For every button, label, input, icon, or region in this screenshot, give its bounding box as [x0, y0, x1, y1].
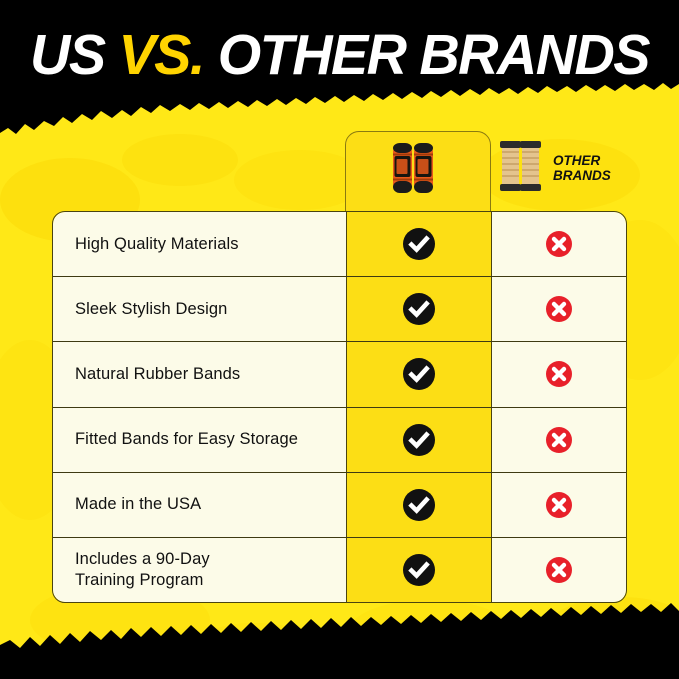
cross-icon [545, 426, 573, 454]
check-icon [402, 292, 436, 326]
other-brands-cell [492, 212, 626, 276]
feature-cell: Includes a 90-DayTraining Program [53, 538, 346, 602]
other-brands-header: OTHER BRANDS [498, 140, 630, 196]
other-label-line1: OTHER [553, 153, 600, 168]
other-brands-cell [492, 538, 626, 602]
us-cell [346, 277, 492, 341]
other-brands-label: OTHER BRANDS [553, 153, 611, 183]
title-part-us: US [30, 23, 118, 87]
us-cell [346, 473, 492, 537]
table-row: Made in the USA [53, 473, 626, 538]
feature-cell: Sleek Stylish Design [53, 277, 346, 341]
us-cell [346, 538, 492, 602]
other-brands-cell [492, 342, 626, 406]
other-product-image [498, 139, 544, 198]
feature-label: Made in the USA [75, 494, 201, 515]
cross-icon [545, 360, 573, 388]
check-icon [402, 488, 436, 522]
page-title: US VS. OTHER BRANDS [7, 22, 672, 88]
us-cell [346, 342, 492, 406]
check-icon [402, 227, 436, 261]
check-icon [402, 357, 436, 391]
feature-cell: High Quality Materials [53, 212, 346, 276]
other-brands-cell [492, 277, 626, 341]
feature-label: Includes a 90-DayTraining Program [75, 549, 210, 591]
feature-label: Natural Rubber Bands [75, 364, 240, 385]
title-part-other: OTHER BRANDS [204, 23, 649, 87]
other-brands-cell [492, 473, 626, 537]
infographic-canvas: US VS. OTHER BRANDS [0, 0, 679, 679]
other-brands-cell [492, 408, 626, 472]
table-row: Sleek Stylish Design [53, 277, 626, 342]
table-row: Fitted Bands for Easy Storage [53, 408, 626, 473]
cross-icon [545, 491, 573, 519]
feature-label: High Quality Materials [75, 234, 239, 255]
feature-label: Sleek Stylish Design [75, 299, 227, 320]
other-label-line2: BRANDS [553, 168, 611, 183]
cross-icon [545, 230, 573, 258]
check-icon [402, 553, 436, 587]
feature-cell: Fitted Bands for Easy Storage [53, 408, 346, 472]
feature-cell: Made in the USA [53, 473, 346, 537]
table-row: Natural Rubber Bands [53, 342, 626, 407]
table-row: Includes a 90-DayTraining Program [53, 538, 626, 602]
cross-icon [545, 295, 573, 323]
us-cell [346, 408, 492, 472]
check-icon [402, 423, 436, 457]
feature-cell: Natural Rubber Bands [53, 342, 346, 406]
cross-icon [545, 556, 573, 584]
table-row: High Quality Materials [53, 212, 626, 277]
feature-label: Fitted Bands for Easy Storage [75, 429, 298, 450]
title-part-vs: VS. [118, 23, 203, 87]
us-product-image [384, 137, 446, 199]
us-cell [346, 212, 492, 276]
comparison-table: High Quality MaterialsSleek Stylish Desi… [52, 211, 627, 603]
